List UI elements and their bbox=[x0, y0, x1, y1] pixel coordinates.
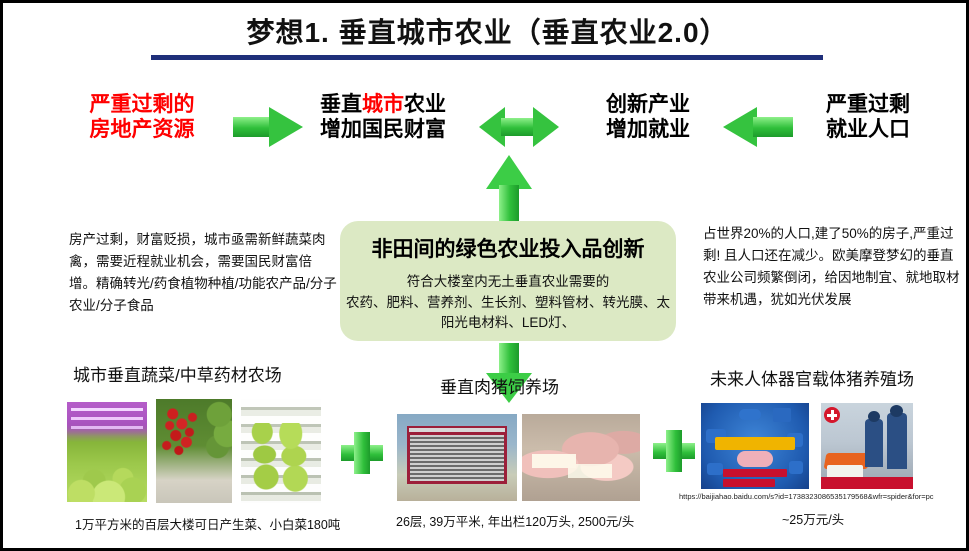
flow-node-1-line2: 房地产资源 bbox=[57, 118, 227, 143]
flow-node-4-line2: 就业人口 bbox=[793, 118, 943, 143]
page-title-text: 梦想1. 垂直城市农业（垂直农业2.0） bbox=[3, 11, 969, 51]
green-box-body-line3: 阳光电材料、LED灯、 bbox=[346, 313, 670, 334]
pigs-photo bbox=[522, 414, 640, 501]
infographic-title-band bbox=[715, 437, 795, 450]
arrow-head bbox=[723, 107, 757, 147]
pig-organ-infographic-photo bbox=[701, 403, 809, 489]
section-heading-vegetable-farm: 城市垂直蔬菜/中草药材农场 bbox=[73, 361, 282, 386]
green-box-body-line1: 符合大楼室内无土垂直农业需要的 bbox=[346, 272, 670, 293]
pig-graphic bbox=[737, 451, 773, 467]
flow-node-2-a: 垂直 bbox=[320, 93, 362, 116]
arrow-shaft bbox=[501, 118, 537, 136]
source-url[interactable]: https://baijiahao.baidu.com/s?id=1738323… bbox=[679, 492, 934, 501]
multistory-pig-building-photo bbox=[397, 414, 517, 501]
medical-staff-1 bbox=[865, 419, 883, 467]
plus-vertical-bar bbox=[666, 430, 682, 472]
green-box-body-line2: 农药、肥料、营养剂、生长剂、塑料管材、转光膜、太 bbox=[346, 293, 670, 314]
section-heading-organ-pig-farm: 未来人体器官载体猪养殖场 bbox=[710, 365, 914, 390]
flow-node-3-line2: 增加就业 bbox=[573, 118, 723, 143]
flow-node-4-line1: 严重过剩 bbox=[793, 93, 943, 118]
medical-staff-2-head bbox=[890, 405, 903, 417]
infographic-tag-2 bbox=[723, 479, 775, 487]
kidney-graphic bbox=[739, 409, 761, 420]
flow-node-real-estate: 严重过剩的 房地产资源 bbox=[57, 93, 227, 143]
arrow-head bbox=[486, 155, 532, 189]
pancreas-graphic bbox=[707, 463, 723, 475]
tomato-vines-photo bbox=[156, 399, 232, 503]
infographic-tag-1 bbox=[723, 469, 787, 477]
flow-node-2-c: 农业 bbox=[404, 93, 446, 116]
skin-graphic bbox=[773, 408, 791, 422]
arrow-left-right-icon bbox=[479, 107, 559, 147]
plus-icon bbox=[653, 430, 695, 472]
medical-staff-2 bbox=[887, 413, 907, 469]
caption-pig-farm: 26层, 39万平米, 年出栏120万头, 2500元/头 bbox=[396, 511, 634, 530]
medical-cross-icon bbox=[824, 407, 840, 423]
arrow-shaft bbox=[753, 117, 793, 137]
flow-node-3-line1: 创新产业 bbox=[573, 93, 723, 118]
caption-vegetable-farm: 1万平方米的百层大楼可日产生菜、小白菜180吨 bbox=[75, 514, 340, 533]
heart-graphic bbox=[789, 461, 803, 474]
plus-vertical-bar bbox=[354, 432, 370, 474]
flow-node-innovation-industry: 创新产业 增加就业 bbox=[573, 93, 723, 143]
medical-staff-1-head bbox=[868, 411, 880, 422]
flow-node-vertical-city-agriculture: 垂直城市农业 增加国民财富 bbox=[293, 93, 473, 143]
arrow-up-icon bbox=[486, 155, 532, 227]
green-box-body: 符合大楼室内无土垂直农业需要的 农药、肥料、营养剂、生长剂、塑料管材、转光膜、太… bbox=[340, 272, 676, 334]
green-innovation-box: 非田间的绿色农业投入品创新 符合大楼室内无土垂直农业需要的 农药、肥料、营养剂、… bbox=[340, 221, 676, 341]
purple-led-vertical-farm-photo bbox=[67, 402, 147, 502]
left-note: 房产过剩，财富贬损，城市亟需新鲜蔬菜肉禽，需要近程就业机会，需要国民财富倍增。精… bbox=[69, 229, 337, 316]
vertical-shelves-sprouts-photo bbox=[241, 399, 321, 503]
caption-organ-pig-price: ~25万元/头 bbox=[782, 509, 844, 528]
arrow-left-icon bbox=[723, 107, 793, 147]
news-caption-bar bbox=[821, 477, 913, 489]
pig-building-body bbox=[407, 432, 507, 484]
title-underline bbox=[151, 55, 823, 60]
page-title: 梦想1. 垂直城市农业（垂直农业2.0） bbox=[3, 11, 969, 51]
flow-node-2-b: 城市 bbox=[362, 93, 404, 116]
plus-icon bbox=[341, 432, 383, 474]
arrow-head-right bbox=[533, 107, 559, 147]
flow-node-1-line1: 严重过剩的 bbox=[57, 93, 227, 118]
flow-node-2-line2: 增加国民财富 bbox=[293, 118, 473, 143]
right-note: 占世界20%的人口,建了50%的房子,严重过剩! 且人口还在减少。欧美摩登梦幻的… bbox=[703, 223, 961, 310]
flow-node-2-line1: 垂直城市农业 bbox=[293, 93, 473, 118]
hospital-transport-photo bbox=[821, 403, 913, 489]
arrow-shaft bbox=[499, 343, 519, 373]
arrow-shaft bbox=[233, 117, 273, 137]
slide-canvas: 梦想1. 垂直城市农业（垂直农业2.0） 严重过剩的 房地产资源 垂直城市农业 … bbox=[0, 0, 969, 551]
flow-node-surplus-workforce: 严重过剩 就业人口 bbox=[793, 93, 943, 143]
green-box-heading: 非田间的绿色农业投入品创新 bbox=[340, 233, 676, 263]
section-heading-pig-farm: 垂直肉猪饲养场 bbox=[440, 373, 559, 398]
